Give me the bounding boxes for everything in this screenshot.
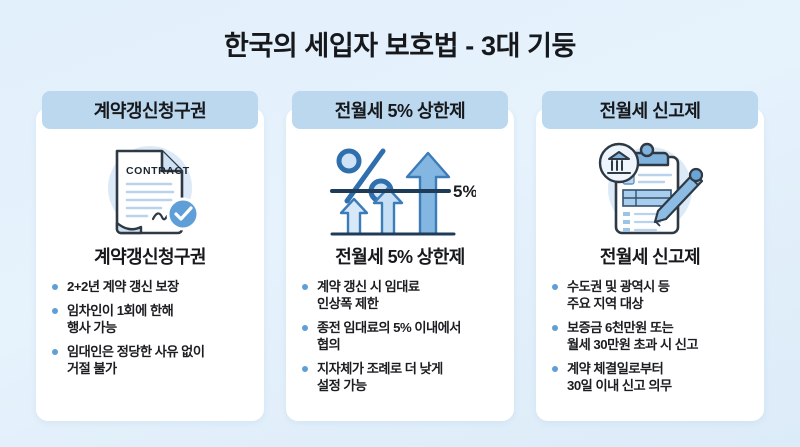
card-rent-cap[interactable]: 전월세 5% 상한제 5% [286, 91, 514, 421]
list-item: 계약 갱신 시 임대료 인상폭 제한 [302, 278, 502, 312]
card-title-1: 계약갱신청구권 [94, 243, 206, 269]
card-header-2: 전월세 5% 상한제 [292, 91, 508, 129]
card-title-2: 전월세 5% 상한제 [335, 243, 464, 269]
bullet-dot-icon [302, 325, 308, 331]
bullet-text: 임대인은 정당한 사유 없이 거절 불가 [67, 343, 252, 377]
card-header-1: 계약갱신청구권 [42, 91, 258, 129]
bullet-dot-icon [552, 284, 558, 290]
list-item: 수도권 및 광역시 등 주요 지역 대상 [552, 278, 752, 312]
list-item: 2+2년 계약 갱신 보장 [52, 278, 252, 295]
list-item: 보증금 6천만원 또는 월세 30만원 초과 시 신고 [552, 319, 752, 353]
list-item: 종전 임대료의 5% 이내에서 협의 [302, 319, 502, 353]
svg-text:CONTRACT: CONTRACT [126, 165, 190, 177]
card-header-3: 전월세 신고제 [542, 91, 758, 129]
bullet-dot-icon [52, 349, 58, 355]
bullet-text: 수도권 및 광역시 등 주요 지역 대상 [567, 278, 752, 312]
card-bullets-2: 계약 갱신 시 임대료 인상폭 제한 종전 임대료의 5% 이내에서 협의 지자… [298, 278, 502, 401]
clipboard-pen-government-icon [536, 133, 764, 241]
bullet-dot-icon [52, 308, 58, 314]
svg-text:5%: 5% [453, 182, 476, 201]
bullet-text: 종전 임대료의 5% 이내에서 협의 [317, 319, 502, 353]
list-item: 임대인은 정당한 사유 없이 거절 불가 [52, 343, 252, 377]
card-rent-report[interactable]: 전월세 신고제 [536, 91, 764, 421]
bullet-dot-icon [552, 366, 558, 372]
bullet-dot-icon [302, 366, 308, 372]
percent-rising-arrows-icon: 5% [286, 133, 514, 241]
list-item: 지자체가 조례로 더 낮게 설정 가능 [302, 360, 502, 394]
bullet-text: 계약 체결일로부터 30일 이내 신고 의무 [567, 360, 752, 394]
card-title-3: 전월세 신고제 [600, 243, 700, 269]
card-contract-renewal[interactable]: 계약갱신청구권 CONTRACT [36, 91, 264, 421]
bullet-text: 2+2년 계약 갱신 보장 [67, 278, 252, 295]
card-bullets-1: 2+2년 계약 갱신 보장 임차인이 1회에 한해 행사 가능 임대인은 정당한… [48, 278, 252, 384]
bullet-dot-icon [552, 325, 558, 331]
bullet-text: 지자체가 조례로 더 낮게 설정 가능 [317, 360, 502, 394]
bullet-dot-icon [302, 284, 308, 290]
list-item: 계약 체결일로부터 30일 이내 신고 의무 [552, 360, 752, 394]
bullet-text: 계약 갱신 시 임대료 인상폭 제한 [317, 278, 502, 312]
contract-document-check-icon: CONTRACT [36, 133, 264, 241]
page-title: 한국의 세입자 보호법 - 3대 기둥 [0, 24, 800, 63]
pillars-card-row: 계약갱신청구권 CONTRACT [0, 91, 800, 423]
card-bullets-3: 수도권 및 광역시 등 주요 지역 대상 보증금 6천만원 또는 월세 30만원… [548, 278, 752, 401]
bullet-dot-icon [52, 284, 58, 290]
list-item: 임차인이 1회에 한해 행사 가능 [52, 302, 252, 336]
bullet-text: 보증금 6천만원 또는 월세 30만원 초과 시 신고 [567, 319, 752, 353]
bullet-text: 임차인이 1회에 한해 행사 가능 [67, 302, 252, 336]
